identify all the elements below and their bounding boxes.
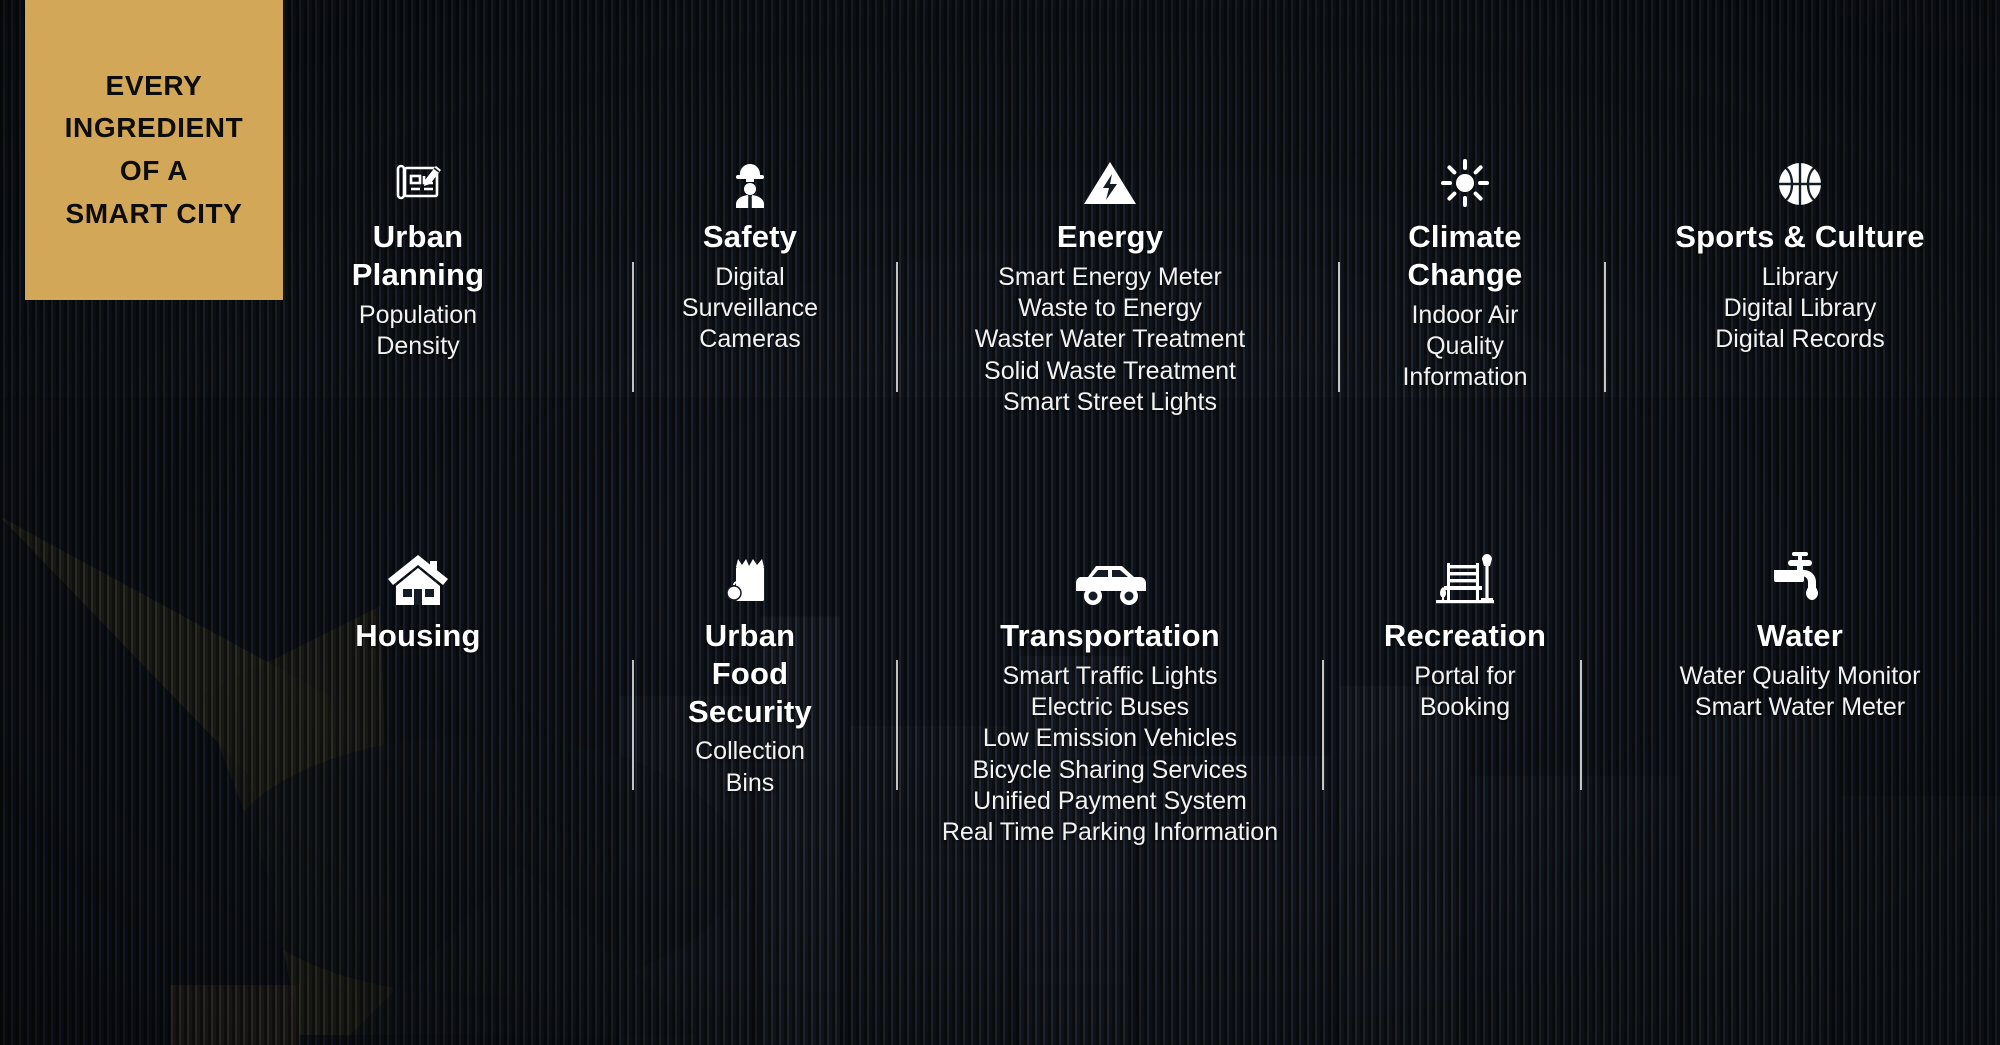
category-items: Library Digital Library Digital Records (1615, 262, 1985, 356)
title-line-2: INGREDIENT (65, 107, 244, 150)
category-items: Digital Surveillance Cameras (640, 262, 860, 356)
list-item: Unified Payment System (900, 786, 1320, 817)
list-item: Digital Records (1615, 324, 1985, 355)
category-title: Recreation (1355, 617, 1575, 655)
list-item: Quality (1355, 331, 1575, 362)
list-item: Library (1615, 262, 1985, 293)
category-items: Water Quality Monitor Smart Water Meter (1615, 661, 1985, 724)
list-item: Smart Street Lights (900, 387, 1320, 418)
list-item: Information (1355, 362, 1575, 393)
list-item: Real Time Parking Information (900, 817, 1320, 848)
category-energy[interactable]: Energy Smart Energy Meter Waste to Energ… (900, 150, 1320, 418)
category-title: Housing (318, 617, 518, 655)
title-line-a: Urban (373, 219, 464, 254)
list-item: Smart Water Meter (1615, 692, 1985, 723)
blueprint-icon (318, 150, 518, 208)
category-title: Climate Change (1355, 218, 1575, 294)
sun-icon (1355, 150, 1575, 208)
category-climate-change[interactable]: Climate Change Indoor Air Quality Inform… (1355, 150, 1575, 393)
title-line-b: Change (1408, 257, 1523, 292)
list-item: Population (318, 300, 518, 331)
title-line-1: EVERY (106, 65, 203, 108)
category-grid: Urban Planning Population Density Safety… (0, 0, 2000, 1045)
category-urban-planning[interactable]: Urban Planning Population Density (318, 150, 518, 362)
title-line-c: Security (688, 694, 812, 729)
title-line-b: Food (712, 656, 789, 691)
title-line-4: SMART CITY (65, 193, 242, 236)
title-card: EVERY INGREDIENT OF A SMART CITY (25, 0, 283, 300)
basketball-icon (1615, 150, 1985, 208)
list-item: Electric Buses (900, 692, 1320, 723)
category-water[interactable]: Water Water Quality Monitor Smart Water … (1615, 543, 1985, 723)
list-item: Digital (640, 262, 860, 293)
electric-hazard-icon (900, 150, 1320, 208)
list-item: Portal for (1355, 661, 1575, 692)
title-line-3: OF A (120, 150, 188, 193)
list-item: Cameras (640, 324, 860, 355)
category-items: Smart Traffic Lights Electric Buses Low … (900, 661, 1320, 849)
faucet-icon (1615, 543, 1985, 607)
list-item: Low Emission Vehicles (900, 723, 1320, 754)
title-line-a: Urban (705, 618, 796, 653)
category-title: Sports & Culture (1615, 218, 1985, 256)
grocery-bag-icon (640, 543, 860, 607)
list-item: Solid Waste Treatment (900, 356, 1320, 387)
category-title: Safety (640, 218, 860, 256)
category-title: Transportation (900, 617, 1320, 655)
car-icon (900, 543, 1320, 607)
category-items: Collection Bins (640, 736, 860, 799)
category-title: Water (1615, 617, 1985, 655)
category-housing[interactable]: Housing (318, 543, 518, 661)
house-icon (318, 543, 518, 607)
category-sports-and-culture[interactable]: Sports & Culture Library Digital Library… (1615, 150, 1985, 356)
list-item: Bicycle Sharing Services (900, 755, 1320, 786)
category-transportation[interactable]: Transportation Smart Traffic Lights Elec… (900, 543, 1320, 848)
category-items: Smart Energy Meter Waste to Energy Waste… (900, 262, 1320, 418)
list-item: Surveillance (640, 293, 860, 324)
category-safety[interactable]: Safety Digital Surveillance Cameras (640, 150, 860, 356)
title-line-a: Climate (1408, 219, 1521, 254)
park-bench-icon (1355, 543, 1575, 607)
list-item: Smart Energy Meter (900, 262, 1320, 293)
list-item: Indoor Air (1355, 300, 1575, 331)
list-item: Waster Water Treatment (900, 324, 1320, 355)
list-item: Water Quality Monitor (1615, 661, 1985, 692)
list-item: Booking (1355, 692, 1575, 723)
category-title: Urban Food Security (640, 617, 860, 730)
list-item: Bins (640, 768, 860, 799)
category-items: Population Density (318, 300, 518, 363)
category-title: Energy (900, 218, 1320, 256)
list-item: Waste to Energy (900, 293, 1320, 324)
category-items: Portal for Booking (1355, 661, 1575, 724)
category-title: Urban Planning (318, 218, 518, 294)
title-line-b: Planning (352, 257, 485, 292)
list-item: Density (318, 331, 518, 362)
list-item: Collection (640, 736, 860, 767)
list-item: Smart Traffic Lights (900, 661, 1320, 692)
category-urban-food-security[interactable]: Urban Food Security Collection Bins (640, 543, 860, 799)
list-item: Digital Library (1615, 293, 1985, 324)
category-items: Indoor Air Quality Information (1355, 300, 1575, 394)
category-recreation[interactable]: Recreation Portal for Booking (1355, 543, 1575, 723)
worker-helmet-icon (640, 150, 860, 208)
